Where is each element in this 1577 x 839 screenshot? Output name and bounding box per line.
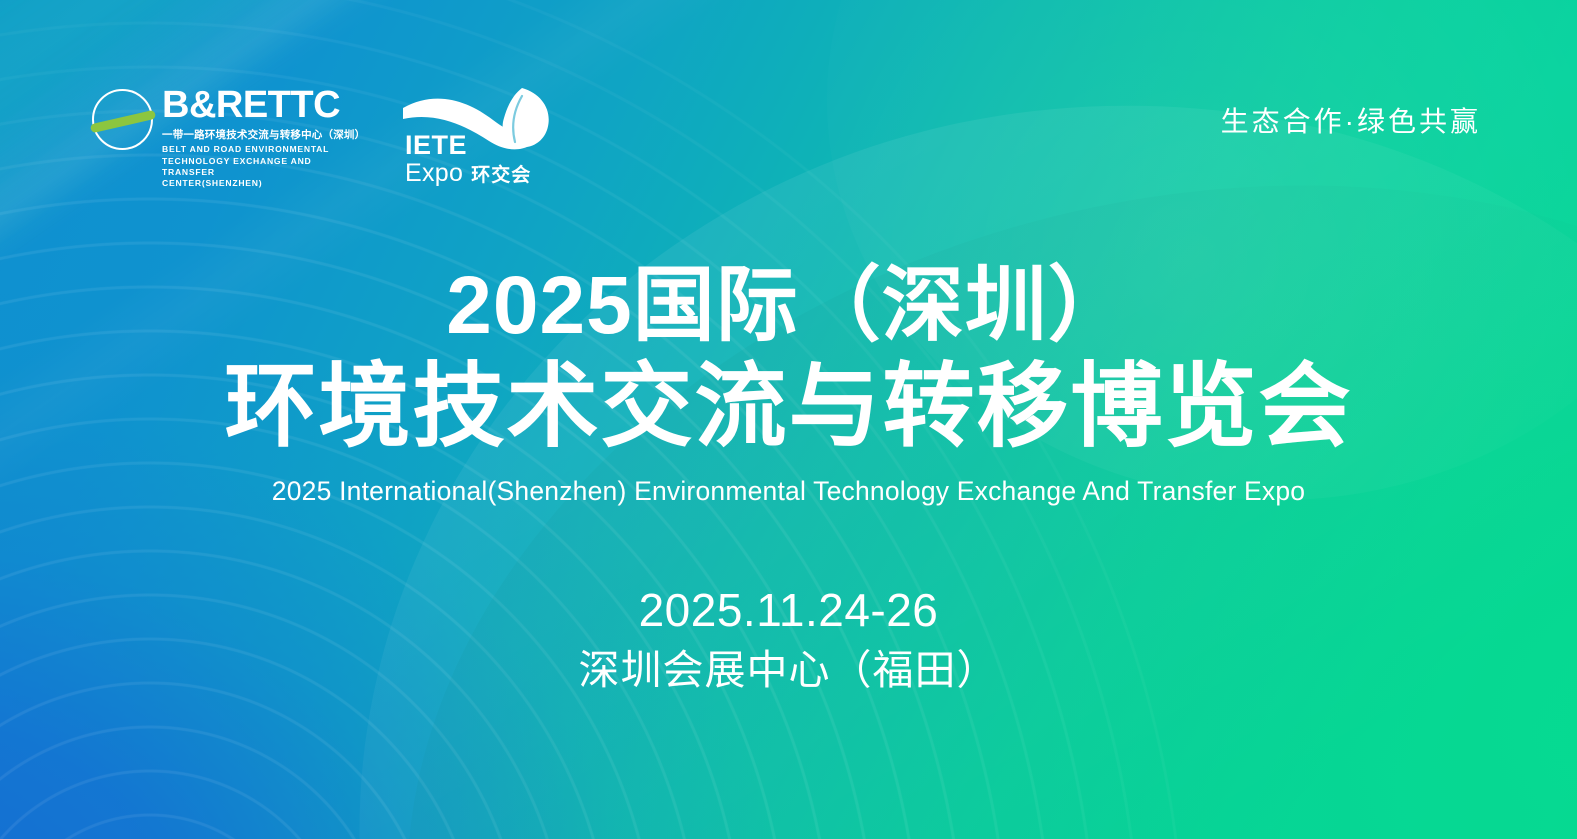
logo-iete-chinese: 环交会 (471, 166, 531, 185)
logo-iete-text: IETE Expo 环交会 (405, 132, 531, 186)
logo-brettc-english-line-1: BELT AND ROAD ENVIRONMENTAL (162, 144, 367, 155)
event-subtitle-english: 2025 International(Shenzhen) Environment… (0, 476, 1577, 507)
logo-brettc-english-name: BELT AND ROAD ENVIRONMENTAL TECHNOLOGY E… (162, 144, 367, 189)
logo-brettc: B&RETTC 一带一路环境技术交流与转移中心（深圳） BELT AND ROA… (92, 86, 367, 190)
event-venue: 深圳会展中心（福田） (0, 645, 1577, 695)
logo-iete-line1: IETE (405, 132, 531, 159)
globe-circle-mark-icon (92, 89, 153, 150)
banner-main-content: 2025国际（深圳） 环境技术交流与转移博览会 2025 Internation… (0, 262, 1577, 695)
logo-iete-line2: Expo 环交会 (405, 161, 531, 186)
logo-brettc-wordmark: B&RETTC (162, 87, 367, 124)
banner-slogan: 生态合作·绿色共赢 (1221, 86, 1481, 140)
event-title-line-2: 环境技术交流与转移博览会 (0, 357, 1577, 458)
event-title-line-1: 2025国际（深圳） (0, 262, 1577, 351)
event-meta: 2025.11.24-26 深圳会展中心（福田） (0, 583, 1577, 695)
logo-brettc-english-line-3: CENTER(SHENZHEN) (162, 178, 367, 189)
event-date: 2025.11.24-26 (0, 583, 1577, 637)
event-banner: B&RETTC 一带一路环境技术交流与转移中心（深圳） BELT AND ROA… (0, 0, 1577, 839)
logo-brettc-text: B&RETTC 一带一路环境技术交流与转移中心（深圳） BELT AND ROA… (162, 86, 367, 190)
logo-iete: IETE Expo 环交会 (401, 88, 565, 183)
logo-iete-expo: Expo (405, 161, 463, 186)
logo-brettc-english-line-2: TECHNOLOGY EXCHANGE AND TRANSFER (162, 156, 367, 179)
banner-header: B&RETTC 一带一路环境技术交流与转移中心（深圳） BELT AND ROA… (0, 86, 1577, 190)
logo-group: B&RETTC 一带一路环境技术交流与转移中心（深圳） BELT AND ROA… (92, 86, 565, 190)
logo-brettc-chinese-name: 一带一路环境技术交流与转移中心（深圳） (162, 127, 367, 142)
